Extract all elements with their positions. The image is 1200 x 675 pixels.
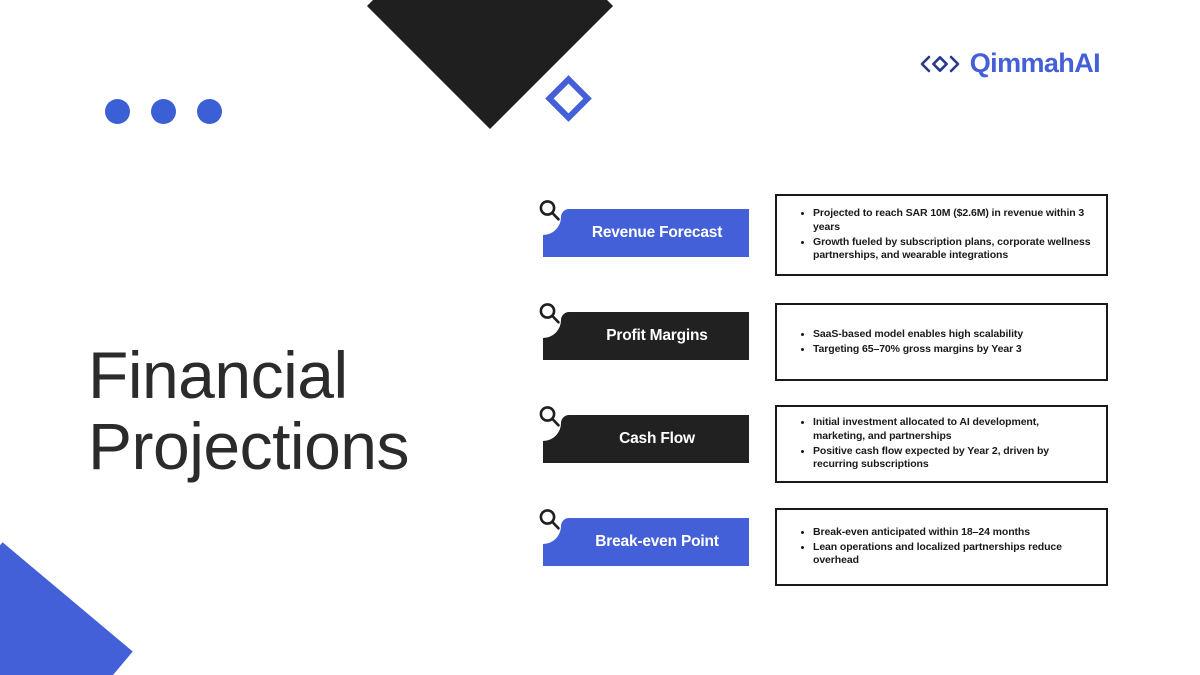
- bullet-list: SaaS-based model enables high scalabilit…: [777, 328, 1106, 357]
- row-content-box: Projected to reach SAR 10M ($2.6M) in re…: [775, 194, 1108, 276]
- row-label-tab-cash-flow[interactable]: Cash Flow: [543, 415, 749, 463]
- bullet-item: SaaS-based model enables high scalabilit…: [813, 328, 1092, 342]
- magnifier-icon: [537, 404, 563, 430]
- bullet-list: Break-even anticipated within 18–24 mont…: [777, 526, 1106, 569]
- slide-canvas: QimmahAI Financial Projections Revenue F…: [0, 0, 1200, 675]
- projection-row: Cash Flow Initial investment allocated t…: [535, 402, 1110, 480]
- row-content-box: Initial investment allocated to AI devel…: [775, 405, 1108, 483]
- row-content-box: Break-even anticipated within 18–24 mont…: [775, 508, 1108, 586]
- projection-row: Profit Margins SaaS-based model enables …: [535, 299, 1110, 377]
- projection-row: Revenue Forecast Projected to reach SAR …: [535, 196, 1110, 274]
- magnifier-icon: [537, 301, 563, 327]
- bullet-list: Projected to reach SAR 10M ($2.6M) in re…: [777, 207, 1106, 263]
- magnifier-icon: [537, 198, 563, 224]
- row-label: Break-even Point: [573, 533, 718, 551]
- bullet-item: Initial investment allocated to AI devel…: [813, 416, 1092, 444]
- row-label-tab-profit-margins[interactable]: Profit Margins: [543, 312, 749, 360]
- projection-rows: Revenue Forecast Projected to reach SAR …: [0, 0, 1200, 675]
- bullet-item: Lean operations and localized partnershi…: [813, 541, 1092, 569]
- magnifier-icon: [537, 507, 563, 533]
- row-label-tab-revenue-forecast[interactable]: Revenue Forecast: [543, 209, 749, 257]
- row-label: Cash Flow: [597, 430, 695, 448]
- bullet-item: Projected to reach SAR 10M ($2.6M) in re…: [813, 207, 1092, 235]
- bullet-item: Positive cash flow expected by Year 2, d…: [813, 445, 1092, 473]
- bullet-item: Growth fueled by subscription plans, cor…: [813, 236, 1092, 264]
- row-label: Revenue Forecast: [570, 224, 722, 242]
- bullet-item: Break-even anticipated within 18–24 mont…: [813, 526, 1092, 540]
- bullet-list: Initial investment allocated to AI devel…: [777, 416, 1106, 472]
- row-content-box: SaaS-based model enables high scalabilit…: [775, 303, 1108, 381]
- projection-row: Break-even Point Break-even anticipated …: [535, 505, 1110, 583]
- row-label: Profit Margins: [584, 327, 707, 345]
- row-label-tab-break-even-point[interactable]: Break-even Point: [543, 518, 749, 566]
- bullet-item: Targeting 65–70% gross margins by Year 3: [813, 343, 1092, 357]
